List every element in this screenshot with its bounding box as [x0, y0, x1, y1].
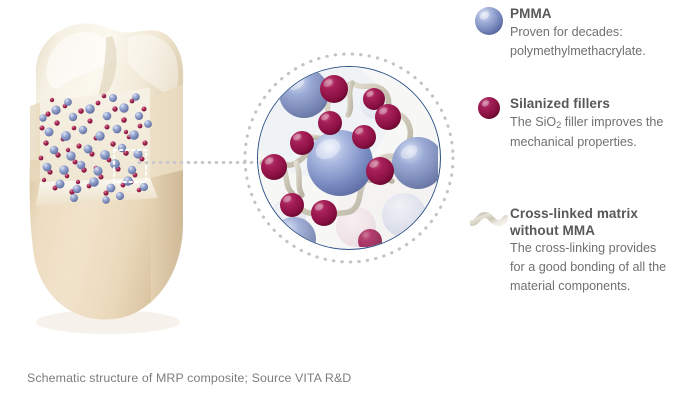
desc-suffix: filler improves the — [561, 115, 663, 129]
legend-desc-cross-linked-matrix-line3: material components. — [510, 277, 700, 296]
detail-circle — [257, 66, 441, 250]
legend-desc-silanized-fillers-line2: mechanical properties. — [510, 133, 700, 152]
blue-sphere-icon — [474, 6, 504, 41]
legend-desc-pmma-line2: polymethylmethacrylate. — [510, 42, 700, 61]
legend-text-silanized-fillers: Silanized fillers The SiO2 filler improv… — [510, 96, 700, 152]
legend-desc-cross-linked-matrix-line1: The cross-linking provides — [510, 239, 700, 258]
legend-desc-pmma-line1: Proven for decades: — [510, 23, 700, 42]
crimson-sphere-icon — [477, 96, 501, 125]
legend-title-silanized-fillers: Silanized fillers — [510, 96, 700, 112]
legend-title-cross-linked-matrix-line1: Cross-linked matrix — [510, 206, 700, 222]
legend-title-cross-linked-matrix-line2: without MMA — [510, 223, 700, 239]
tooth-illustration — [8, 10, 208, 340]
leader-line — [136, 161, 258, 164]
legend-desc-silanized-fillers-line1: The SiO2 filler improves the — [510, 113, 700, 133]
legend-text-cross-linked-matrix: Cross-linked matrix without MMA The cros… — [510, 206, 700, 296]
desc-prefix: The SiO — [510, 115, 556, 129]
figure-canvas: PMMA Proven for decades: polymethylmetha… — [0, 0, 700, 400]
sio2-subscript: 2 — [556, 120, 561, 130]
figure-caption: Schematic structure of MRP composite; So… — [27, 371, 351, 385]
legend-text-pmma: PMMA Proven for decades: polymethylmetha… — [510, 6, 700, 61]
legend-desc-cross-linked-matrix-line2: for a good bonding of all the — [510, 258, 700, 277]
detail-view — [243, 52, 455, 264]
legend-title-pmma: PMMA — [510, 6, 700, 22]
legend: PMMA Proven for decades: polymethylmetha… — [470, 0, 700, 360]
wavy-matrix-icon — [470, 210, 508, 235]
